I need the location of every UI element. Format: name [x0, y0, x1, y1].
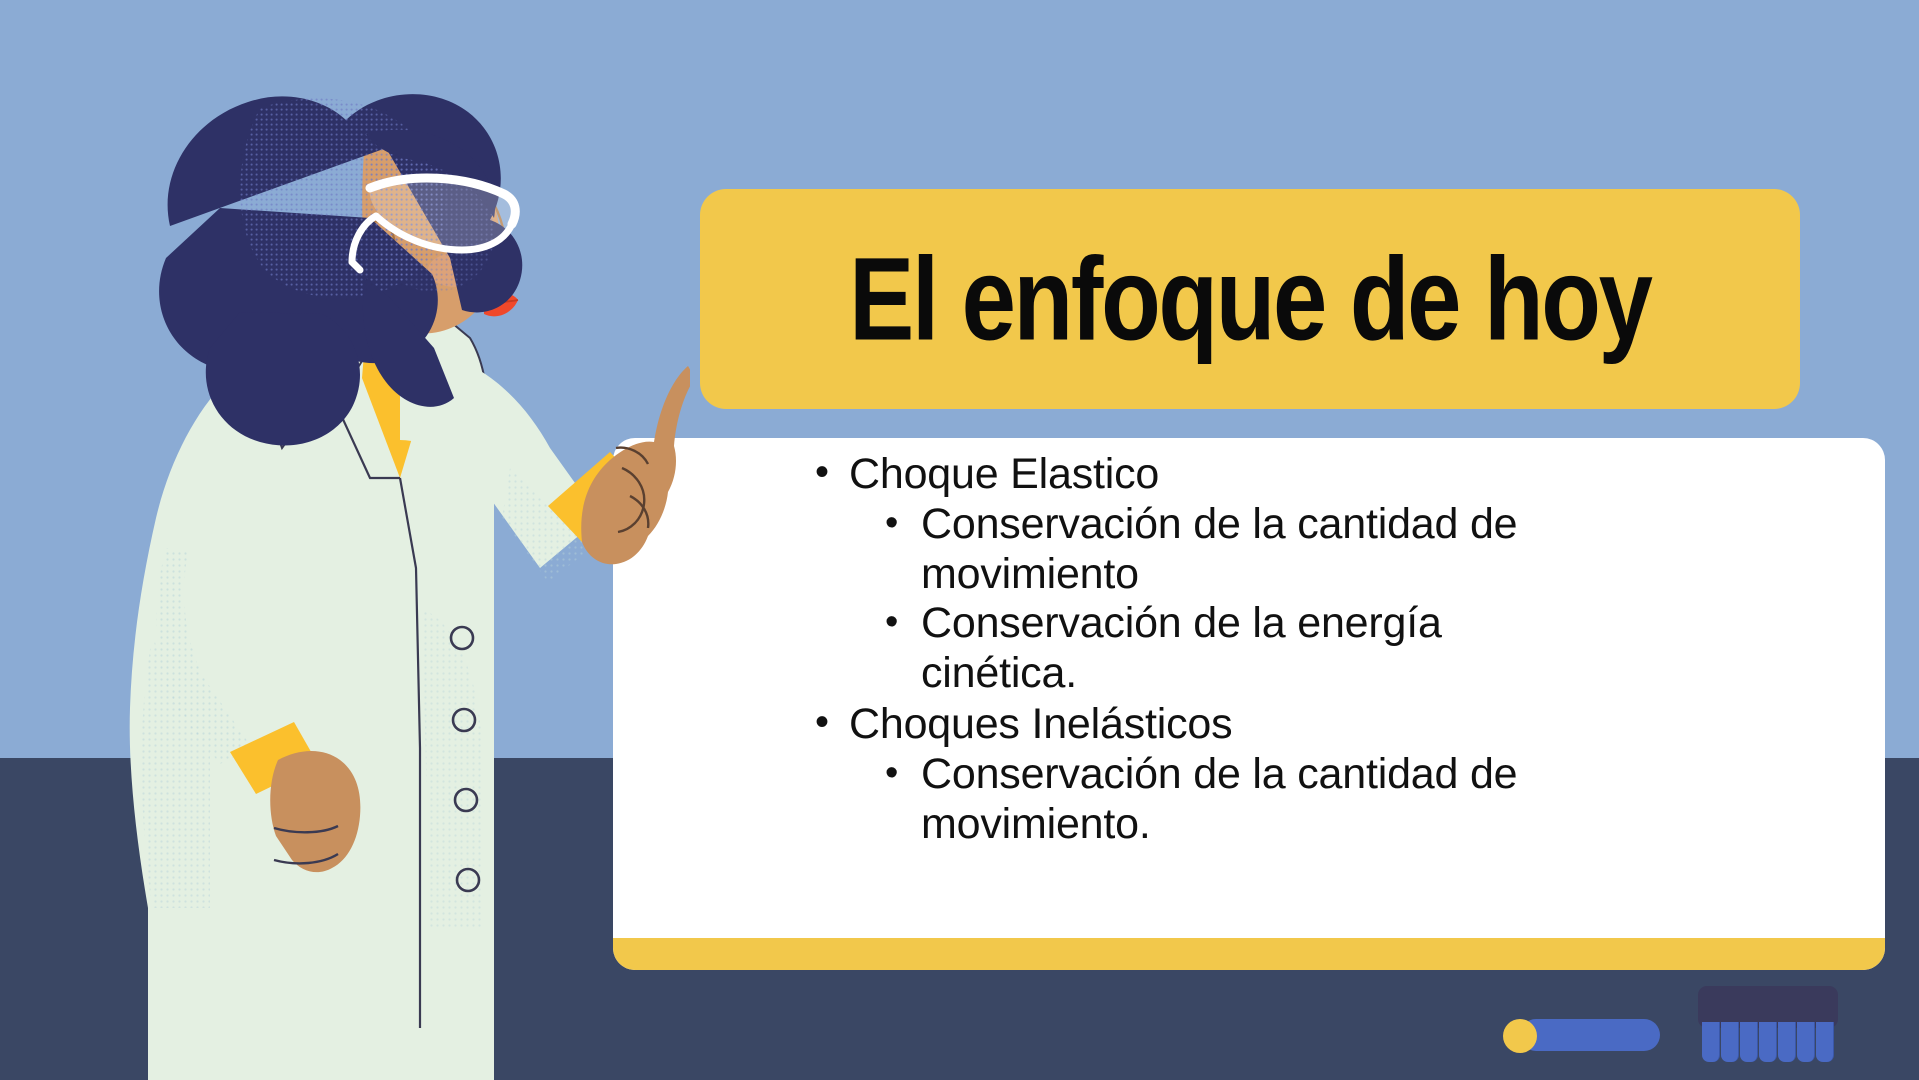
bullet-list-level1: Choque Elastico Conservación de la canti… — [807, 450, 1845, 850]
list-item: Choques Inelásticos Conservación de la c… — [807, 700, 1845, 849]
bullet-label: Choque Elastico — [849, 450, 1845, 500]
list-item: Conservación de la cantidad de movimient… — [879, 750, 1559, 850]
marker-cap — [1503, 1019, 1537, 1053]
bullet-list-container: Choque Elastico Conservación de la canti… — [613, 438, 1885, 851]
page-title: El enfoque de hoy — [849, 240, 1650, 358]
list-item: Choque Elastico Conservación de la canti… — [807, 450, 1845, 699]
bullet-list-level2: Conservación de la cantidad de movimient… — [879, 500, 1845, 700]
marker-body — [1520, 1019, 1660, 1051]
bullet-list-level2: Conservación de la cantidad de movimient… — [879, 750, 1845, 850]
presentation-slide: El enfoque de hoy Choque Elastico Conser… — [0, 0, 1919, 1080]
list-item: Conservación de la cantidad de movimient… — [879, 500, 1559, 600]
female-scientist-illustration — [70, 48, 690, 1080]
card-accent-bar — [613, 938, 1885, 970]
list-item: Conservación de la energía cinética. — [879, 599, 1559, 699]
brush-bristles — [1702, 1022, 1834, 1062]
bullet-label: Choques Inelásticos — [849, 700, 1845, 750]
title-banner: El enfoque de hoy — [700, 189, 1800, 409]
content-card: Choque Elastico Conservación de la canti… — [613, 438, 1885, 970]
